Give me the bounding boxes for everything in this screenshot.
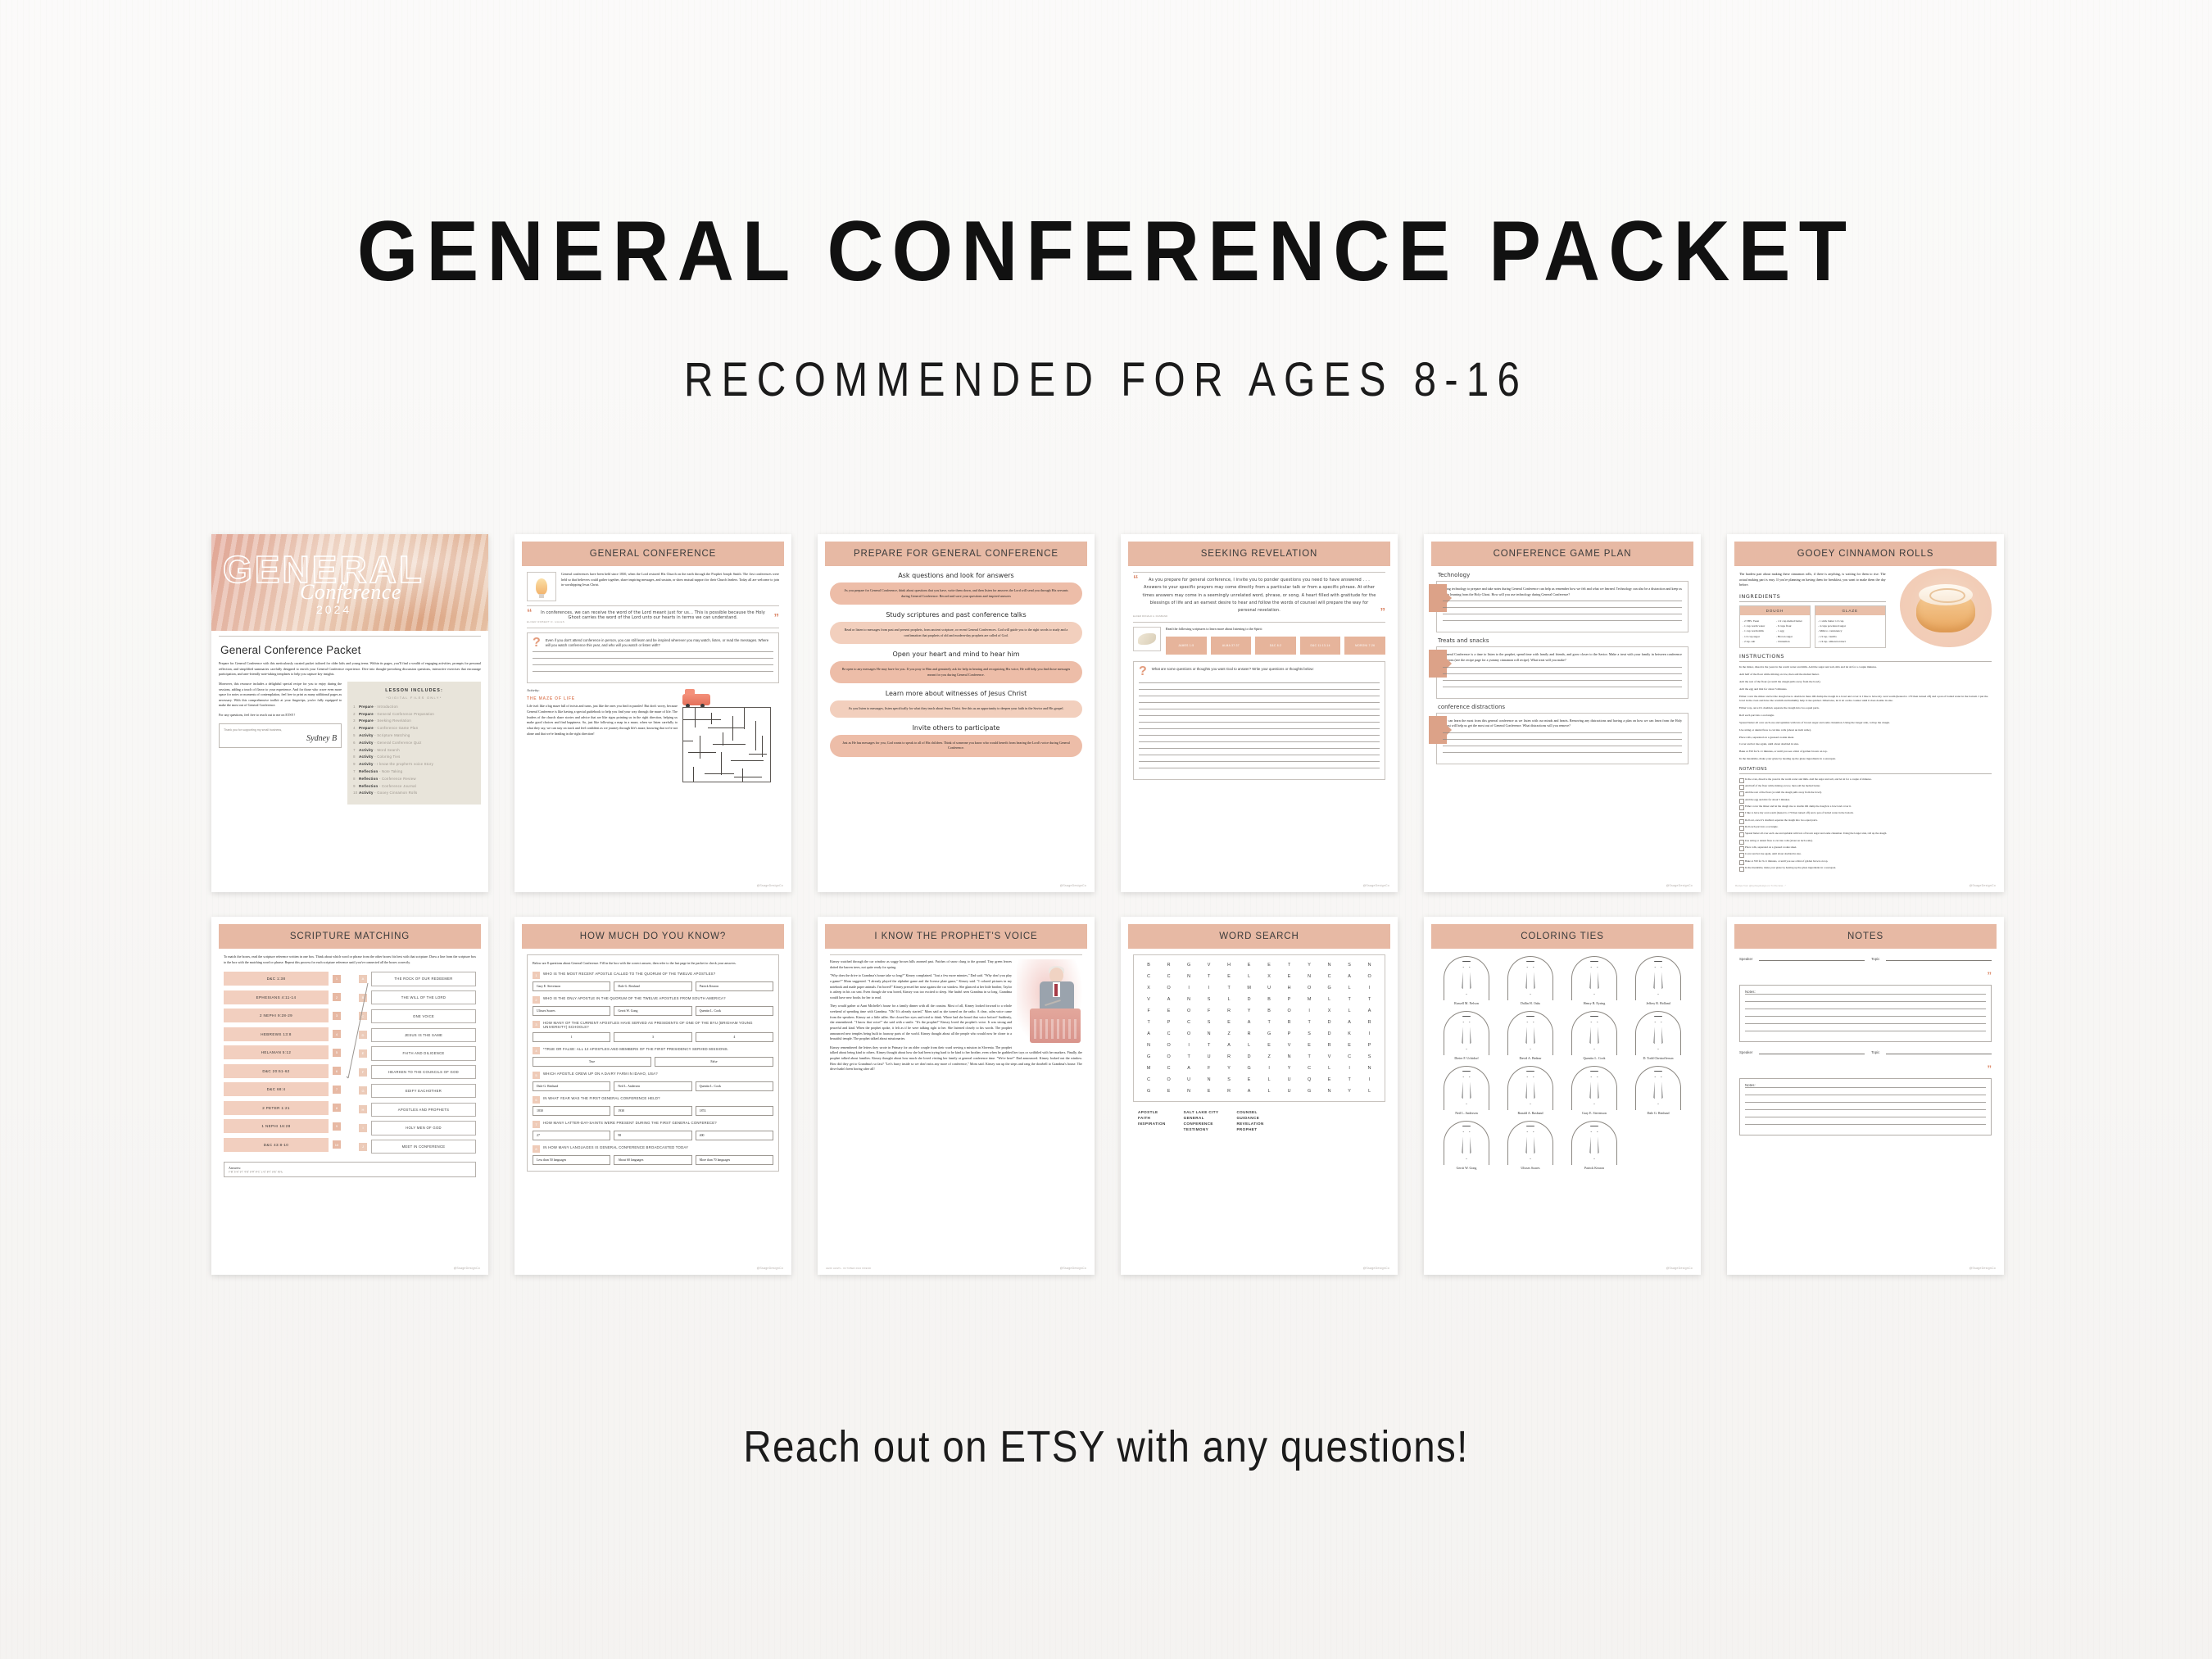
gc-answer-lines[interactable] [533,651,773,672]
notation-item[interactable]: Add half of the flour while mixing on lo… [1739,784,1992,788]
quiz-option[interactable]: Quentin L. Cook [696,1006,773,1016]
notation-item[interactable]: In the oven, dissolve the yeast in the w… [1739,777,1992,782]
tie-cell[interactable]: Jeffrey R. Holland [1628,954,1688,1005]
scripture-answer: THE ROCK OF OUR REDEEMER [371,972,476,986]
sheet-banner: SEEKING REVELATION [1128,542,1390,566]
gc-question: Even if you don't attend conference in p… [546,638,773,648]
word-search-cell: L [1320,997,1340,1002]
prepare-pill: As you prepare for General Conference, t… [830,582,1082,605]
word-search-cell: I [1259,1066,1280,1071]
word-search-cell: I [1179,1043,1199,1048]
scripture-ref-row[interactable]: 2 PETER 1:218 [224,1101,341,1115]
scripture-answer-letter: I [359,1124,367,1132]
tie-icon [1628,954,1688,1000]
quiz-option[interactable]: 400 [696,1131,773,1140]
cover-para-2: Moreover, this resource includes a delig… [219,682,342,709]
speaker-label: Speaker [1739,957,1752,961]
notation-item[interactable]: Bake at 350 for 9-11 minutes, or until y… [1739,859,1992,863]
gameplan-box: General Conference is a time to listen t… [1436,646,1688,698]
watermark: @SsageDesignCo [1363,1267,1389,1270]
word-bank-item: COUNSEL [1236,1110,1263,1116]
word-search-cell: C [1139,1077,1159,1082]
gameplan-heading: conference distractions [1438,704,1688,710]
scripture-answer: APOSTLES AND PROPHETS [371,1103,476,1117]
quiz-option[interactable]: 98 [614,1131,691,1140]
watermark: @SsageDesignCo [757,884,783,887]
tie-icon [1436,1064,1497,1110]
thumbnail-game-plan[interactable]: CONFERENCE GAME PLAN TechnologyUsing tec… [1424,534,1701,892]
word-search-cell: U [1179,1077,1199,1082]
tie-name: Dieter F. Uchtdorf [1436,1056,1497,1060]
word-search-cell: E [1159,1009,1180,1013]
word-bank-item: CONFERENCE [1184,1122,1219,1127]
thumbnail-cinnamon-rolls[interactable]: GOOEY CINNAMON ROLLS The hardest part ab… [1727,534,2004,892]
sheet-banner: WORD SEARCH [1128,924,1390,949]
word-search-cell: N [1320,963,1340,968]
tie-cell[interactable]: Ulisses Soares [1500,1119,1561,1170]
thumbnail-cover[interactable]: GENERAL Conference 2024 General Conferen… [211,534,488,892]
scripture-answer: THE WILL OF THE LORD [371,990,476,1004]
word-search-cell: N [1320,1089,1340,1094]
quiz-option[interactable]: 27 [533,1131,610,1140]
gameplan-block: Using technology to prepare and take not… [1436,581,1688,632]
tie-cell[interactable]: Dale G. Renlund [1628,1064,1688,1115]
scripture-chip[interactable]: D&C 11:13-14 [1300,637,1341,655]
scripture-ref-row[interactable]: 2 NEPHI 9:28-293 [224,1009,341,1022]
scripture-chip[interactable]: JAMES 1:5 [1166,637,1207,655]
quiz-option[interactable]: 4 [696,1032,773,1042]
cover-para-3: For any questions, feel free to reach ou… [219,713,342,718]
tie-cell[interactable]: Neil L. Andersen [1436,1064,1497,1115]
scripture-answer-row[interactable]: ATHE ROCK OF OUR REDEEMER [359,972,476,986]
scripture-answer: FAITH AND DILIGENCE [371,1046,476,1060]
lightbulb-icon [527,572,556,601]
word-search-cell: P [1360,1043,1380,1048]
gc-quote: In conferences, we can receive the word … [536,610,771,620]
word-search-cell: T [1280,963,1300,968]
word-search-cell: U [1259,986,1280,990]
footer-cta: Reach out on ETSY with any questions! [133,1421,2079,1472]
notes-area[interactable]: Notes: [1739,1078,1992,1135]
quiz-option[interactable]: Dale G. Renlund [614,981,691,991]
quiz-option[interactable]: Gerrit W. Gong [614,1006,691,1016]
answer-key-box: Answers: 1-B, 2-H, 3-I, 4-D, 5-A, 6-C, 7… [224,1162,476,1177]
quiz-option[interactable]: Dale G. Renlund [533,1081,610,1091]
word-search-cell: F [1199,1009,1220,1013]
word-search-cell: M [1299,997,1320,1002]
gameplan-lines[interactable] [1443,732,1682,753]
quote-icon: ” [1739,1064,1992,1074]
word-search-cell: Y [1240,1009,1260,1013]
scripture-answer-row[interactable]: JMEET IN CONFERENCE [359,1140,476,1154]
page-title: GENERAL CONFERENCE PACKET [88,203,2124,301]
word-bank-item: PROPHET [1236,1127,1263,1133]
prepare-body: Just as He has messages for you, God wan… [840,741,1072,751]
topic-input[interactable] [1886,954,1992,961]
scripture-chip[interactable]: MORONI 7:26 [1344,637,1385,655]
quiz-option[interactable]: 3 [614,1032,691,1042]
word-search-cell: E [1219,1020,1240,1025]
tie-name: Gerrit W. Gong [1436,1166,1497,1170]
recipe-step: Bake at 350 for 9-11 minutes, or until y… [1739,750,1992,755]
lesson-includes-title: LESSON INCLUDES: [353,688,475,693]
signature-box: Thank you for supporting my small busine… [219,723,342,748]
speaker-input[interactable] [1759,1048,1865,1054]
ingredient: Cinnamon [1776,639,1807,644]
sm-intro: To match the boxes, read the scripture r… [224,954,476,965]
quiz-question-text: WHO IS THE ONLY APOSTLE IN THE QUORUM OF… [543,996,726,1004]
cinnamon-roll-image [1900,569,1992,647]
word-search-cell: X [1139,986,1159,990]
topic-input[interactable] [1886,1048,1992,1054]
word-bank-item: FAITH [1138,1116,1166,1122]
sr-answer-lines[interactable] [1139,682,1380,768]
quiz-option-row: Less than 50 languagesAbout 60 languages… [533,1155,773,1165]
scripture-ref-num: 3 [333,1012,341,1020]
word-search-cell: H [1219,963,1240,968]
recipe-step: Add the egg and mix for about 5 minutes. [1739,687,1992,692]
promo-page: GENERAL CONFERENCE PACKET RECOMMENDED FO… [0,0,2212,1659]
word-search-cell: N [1360,963,1380,968]
word-search-cell: M [1139,1066,1159,1071]
quiz-option[interactable]: Ulisses Soares [533,1006,610,1016]
word-search-cell: I [1360,986,1380,990]
notation-item[interactable]: Add the rest of the flour (or until the … [1739,791,1992,795]
tie-cell[interactable]: Dallin H. Oaks [1500,954,1561,1005]
quiz-option[interactable]: Neil L. Andersen [614,1081,691,1091]
signature-note: Thank you for supporting my small busine… [224,728,337,732]
word-search-cell: F [1139,1009,1159,1013]
scripture-answer-row[interactable]: GEDIFY EACHOTHER [359,1084,476,1098]
scripture-ref: HEBREWS 13:8 [224,1027,329,1041]
speaker-label: Speaker [1739,1050,1752,1054]
quiz-number: 1 [533,972,540,979]
prepare-heading: Learn more about witnesses of Jesus Chri… [830,690,1082,697]
word-search-cell: N [1280,1054,1300,1059]
scripture-answer-row[interactable]: FHEARKEN TO THE COUNCILS OF GOD [359,1065,476,1079]
recipe-step: Either cover the mixer and let the dough… [1739,695,1992,704]
word-search-cell: Z [1219,1031,1240,1036]
scripture-ref-row[interactable]: HEBREWS 13:84 [224,1027,341,1041]
recipe-step: Spread butter all over each one and spri… [1739,721,1992,726]
tie-cell[interactable]: Henry B. Eyring [1564,954,1625,1005]
ingredients-heading: INGREDIENTS [1739,593,1886,602]
tie-cell[interactable]: Patrick Kearon [1564,1119,1625,1170]
tie-name: D. Todd Christofferson [1628,1056,1688,1060]
quiz-option[interactable]: 1930 [614,1106,691,1116]
quiz-option-row: Ulisses SoaresGerrit W. GongQuentin L. C… [533,1006,773,1016]
gameplan-box: Using technology to prepare and take not… [1436,581,1688,632]
recipe-step: Place rolls, separated on a greased cook… [1739,736,1992,741]
truck-icon [682,694,710,705]
word-search-cell: G [1240,1066,1260,1071]
quiz-number: 6 [533,1096,540,1104]
quiz-option[interactable]: True [533,1057,651,1067]
lesson-item: 9Activity - I know the prophet's voice S… [353,762,475,766]
word-search-cell: Z [1259,1054,1280,1059]
thumbnail-word-search[interactable]: WORD SEARCH BRGVHEETYNSNCCNTELXENCAOXOII… [1121,917,1398,1275]
watermark: @SsageDesignCo [1060,1267,1086,1270]
quiz-question-text: HOW MANY LATTER-DAY-SAINTS WERE PRESENT … [543,1121,717,1128]
thumbnail-scripture-matching[interactable]: SCRIPTURE MATCHING To match the boxes, r… [211,917,488,1275]
quiz-question-text: *TRUE OR FALSE: ALL 12 APOSTLES AND MEMB… [543,1047,728,1054]
word-bank: APOSTLEFAITHINSPIRATIONSALT LAKE CITYGEN… [1133,1110,1385,1133]
tie-cell[interactable]: Quentin L. Cook [1564,1009,1625,1060]
scripture-ref-num: 10 [333,1140,341,1149]
word-search-cell: B [1259,997,1280,1002]
word-search-cell: X [1259,974,1280,979]
scripture-ref-num: 4 [333,1030,341,1038]
notation-item[interactable]: Roll out, once it's doubled, separate th… [1739,818,1992,823]
scripture-answer-row[interactable]: BTHE WILL OF THE LORD [359,990,476,1004]
word-search-cell: N [1139,1043,1159,1048]
quiz-question-text: HOW MANY OF THE CURRENT APOSTLES HAVE SE… [543,1021,773,1031]
word-bank-item: TESTIMONY [1184,1127,1219,1133]
quiz-option[interactable]: More than 70 languages [696,1155,773,1165]
scripture-ref: 1 NEPHI 16:28 [224,1119,329,1133]
word-search-cell: E [1219,974,1240,979]
tie-cell[interactable]: Ronald A. Rasband [1500,1064,1561,1115]
notation-item[interactable]: Place rolls, separated on a greased cook… [1739,845,1992,850]
word-bank-item: INSPIRATION [1138,1122,1166,1127]
word-search-cell: F [1199,1066,1220,1071]
lesson-item: 3Prepare - Seeking Revelation [353,718,475,723]
word-search-cell: Y [1219,1066,1240,1071]
word-search-cell: Y [1339,1089,1360,1094]
quiz-option[interactable]: 1 [533,1032,610,1042]
word-search-cell: D [1240,1054,1260,1059]
thumbnail-seeking-revelation[interactable]: SEEKING REVELATION “ As you prepare for … [1121,534,1398,892]
word-search-cell: A [1139,1031,1159,1036]
answer-key-label: Answers: [229,1166,471,1170]
word-search-cell: L [1219,997,1240,1002]
word-search-cell: V [1139,997,1159,1002]
lesson-item: 10Activity - Gooey Cinnamon Rolls [353,791,475,795]
notation-item[interactable]: I like to have my oven warm (heated to 1… [1739,811,1992,815]
tie-icon [1628,1064,1688,1110]
word-search-grid[interactable]: BRGVHEETYNSNCCNTELXENCAOXOIITMUHOGLIVANS… [1133,954,1385,1102]
notation-item[interactable]: Spread butter all over each one and spri… [1739,832,1992,836]
scripture-answer-row[interactable]: DJESUS IS THE SAME [359,1028,476,1042]
scripture-answer-row[interactable]: CONE VOICE [359,1009,476,1023]
word-search-cell: S [1339,963,1360,968]
watermark: @SsageDesignCo [1969,884,1996,887]
scripture-answer-row[interactable]: IHOLY MEN OF GOD [359,1121,476,1135]
word-search-cell: L [1339,986,1360,990]
sheet-banner: HOW MUCH DO YOU KNOW? [522,924,784,949]
quiz-question-row: 6IN WHAT YEAR WAS THE FIRST GENERAL CONF… [533,1096,773,1104]
dough-header: DOUGH [1740,606,1810,615]
speaker-input[interactable] [1759,954,1865,961]
tie-icon [1500,1009,1561,1055]
word-search-cell: A [1339,974,1360,979]
word-search-cell: L [1240,1043,1260,1048]
lesson-includes-box: LESSON INCLUDES: *DIGITAL FILES ONLY* 1P… [347,682,481,805]
tie-cell[interactable]: Dieter F. Uchtdorf [1436,1009,1497,1060]
scripture-answer-letter: H [359,1105,367,1113]
scripture-ref-row[interactable]: D&C 20:61-626 [224,1064,341,1078]
gameplan-body: Using technology to prepare and take not… [1443,587,1682,597]
scripture-chip[interactable]: D&C 8:2 [1255,637,1296,655]
word-search-cell: O [1280,1009,1300,1013]
tie-name: Patrick Kearon [1564,1166,1625,1170]
word-search-cell: Y [1299,963,1320,968]
prepare-pill: Just as He has messages for you, God wan… [830,735,1082,757]
thumbnail-prepare[interactable]: PREPARE FOR GENERAL CONFERENCE Ask quest… [818,534,1095,892]
quiz-number: 7 [533,1121,540,1128]
quiz-option[interactable]: About 60 languages [614,1155,691,1165]
quiz-question-row: 2WHO IS THE ONLY APOSTLE IN THE QUORUM O… [533,996,773,1004]
notation-item[interactable]: Add the egg and mix for about 5 minutes. [1739,798,1992,802]
scripture-ref: D&C 1:38 [224,972,329,986]
tie-name: Ulisses Soares [1500,1166,1561,1170]
tie-cell[interactable]: David A. Bednar [1500,1009,1561,1060]
quote-icon: ” [1739,971,1992,981]
scripture-ref-row[interactable]: 1 NEPHI 16:289 [224,1119,341,1133]
prophet-illustration [1017,959,1082,1045]
word-search-cell: E [1280,974,1300,979]
notation-item[interactable]: Cover and let rise again, until about do… [1739,852,1992,856]
quiz-option[interactable]: Less than 50 languages [533,1155,610,1165]
quote-close-icon: ” [1380,610,1386,614]
word-search-cell: L [1320,1066,1340,1071]
word-search-cell: C [1179,1020,1199,1025]
scripture-answer-row[interactable]: HAPOSTLES AND PROPHETS [359,1103,476,1117]
tie-icon [1500,1119,1561,1165]
prepare-heading: Ask questions and look for answers [830,572,1082,579]
sheet-banner: PREPARE FOR GENERAL CONFERENCE [825,542,1087,566]
quiz-option[interactable]: 1830 [533,1106,610,1116]
word-search-cell: G [1139,1054,1159,1059]
lesson-item: 8Activity - Coloring Ties [353,755,475,759]
quiz-option[interactable]: 1874 [696,1106,773,1116]
scripture-answer-row[interactable]: EFAITH AND DILIGENCE [359,1046,476,1060]
prepare-body: As you listen to messages, listen specif… [840,706,1072,712]
quiz-number: 5 [533,1072,540,1079]
cover-heading: General Conference Packet [220,644,481,656]
scripture-ref-row[interactable]: D&C 68:47 [224,1082,341,1096]
scripture-answer-letter: A [359,975,367,983]
word-search-cell: U [1280,1077,1300,1082]
sheet-banner: COLORING TIES [1431,924,1693,949]
word-search-cell: E [1240,1077,1260,1082]
word-bank-item: REVELATION [1236,1122,1263,1127]
notation-item[interactable]: In the meantime, make your glaze by heat… [1739,866,1992,870]
lesson-item: 7Reflection - Note Taking [353,769,475,773]
gameplan-heading: Treats and snacks [1438,637,1688,644]
topic-label: Topic [1871,957,1879,961]
scripture-answer-letter: G [359,1086,367,1095]
word-search-cell: O [1179,1031,1199,1036]
notation-item[interactable]: Either cover the mixer and let the dough… [1739,805,1992,809]
instructions-heading: INSTRUCTIONS [1739,653,1992,662]
scripture-answer-letter: C [359,1012,367,1020]
word-search-cell: N [1199,1077,1220,1082]
quiz-option-row: Dale G. RenlundNeil L. AndersenQuentin L… [533,1081,773,1091]
quiz-question-row: 7HOW MANY LATTER-DAY-SAINTS WERE PRESENT… [533,1121,773,1128]
word-search-cell: E [1259,963,1280,968]
quiz-question-text: IN WHAT YEAR WAS THE FIRST GENERAL CONFE… [543,1096,660,1104]
quiz-intro: Below are 8 questions about General Conf… [533,961,773,967]
maze-text: Life isn't like a big maze full of twist… [527,704,678,737]
scripture-answer-letter: D [359,1031,367,1039]
gameplan-lines[interactable] [1443,601,1682,621]
word-search-cell: G [1139,1089,1159,1094]
quiz-option-row: 2798400 [533,1131,773,1140]
scripture-ref-row[interactable]: HELAMAN 5:125 [224,1045,341,1059]
quiz-option[interactable]: Patrick Kearon [696,981,773,991]
tie-name: Gary E. Stevenson [1564,1111,1625,1115]
lesson-item: 7Activity - Word Search [353,748,475,752]
word-search-cell: Q [1299,1077,1320,1082]
dough-table: DOUGH 2 TBS. Yeast1 cup warm water1 cup … [1739,605,1811,648]
scripture-chip[interactable]: ALMA 37:37 [1211,637,1252,655]
tie-cell[interactable]: Gary E. Stevenson [1564,1064,1625,1115]
quiz-option-row: 134 [533,1032,773,1042]
scripture-ref-row[interactable]: D&C 43:8-1010 [224,1138,341,1152]
lesson-item: 2Prepare - General Conference Preparatio… [353,712,475,716]
quiz-option[interactable]: Quentin L. Cook [696,1081,773,1091]
word-search-cell: A [1360,1009,1380,1013]
notes-area[interactable]: Notes: [1739,985,1992,1042]
word-search-cell: C [1139,974,1159,979]
word-search-cell: V [1199,963,1220,968]
gameplan-heading: Technology [1438,572,1688,578]
quiz-question-row: 4*TRUE OR FALSE: ALL 12 APOSTLES AND MEM… [533,1047,773,1054]
word-search-cell: G [1299,1089,1320,1094]
word-search-cell: E [1159,1089,1180,1094]
thumbnail-notes[interactable]: NOTES SpeakerTopic”Notes:SpeakerTopic”No… [1727,917,2004,1275]
answer-key: 1-B, 2-H, 3-I, 4-D, 5-A, 6-C, 7-G, 8-J, … [229,1170,471,1173]
quiz-option[interactable]: Gary E. Stevenson [533,981,610,991]
word-search-cell: L [1259,1077,1280,1082]
word-search-cell: I [1339,1066,1360,1071]
thumbnail-coloring-ties[interactable]: COLORING TIES Russell M. NelsonDallin H.… [1424,917,1701,1275]
word-search-cell: S [1199,1020,1220,1025]
word-search-cell: I [1299,1009,1320,1013]
gameplan-lines[interactable] [1443,667,1682,687]
lesson-item: 1Prepare - Introduction [353,705,475,709]
thumbnail-general-conference[interactable]: GENERAL CONFERENCE General conferences h… [514,534,791,892]
gameplan-body: We can learn the most from this general … [1443,718,1682,729]
tie-cell[interactable]: Russell M. Nelson [1436,954,1497,1005]
thumbnail-quiz[interactable]: HOW MUCH DO YOU KNOW? Below are 8 questi… [514,917,791,1275]
sheet-banner: NOTES [1734,924,1997,949]
tie-cell[interactable]: D. Todd Christofferson [1628,1009,1688,1060]
tie-cell[interactable]: Gerrit W. Gong [1436,1119,1497,1170]
sheet-banner: GENERAL CONFERENCE [522,542,784,566]
notation-item[interactable]: Roll each part into a rectangle. [1739,825,1992,829]
recipe-step: Use string or dental floss to cut into r… [1739,728,1992,733]
quote-open-icon: “ [1133,577,1139,582]
scripture-ref-row[interactable]: EPHESIANS 4:11-142 [224,990,341,1004]
lesson-item: 8Reflection - Conference Review [353,777,475,781]
gc-intro: General conferences have been held since… [561,572,779,588]
word-search-cell: D [1240,997,1260,1002]
quiz-option[interactable]: False [655,1057,773,1067]
tie-name: Neil L. Andersen [1436,1111,1497,1115]
word-search-cell: P [1280,997,1300,1002]
word-search-cell: N [1179,974,1199,979]
thumbnail-prophets-voice[interactable]: I KNOW THE PROPHET'S VOICE Kinsey watche… [818,917,1095,1275]
tie-name: Russell M. Nelson [1436,1001,1497,1005]
story-source: HEIDI LEWIS - OCTOBER 2022 FRIEND [826,1267,871,1270]
quiz-question-row: 8IN HOW MANY LANGUAGES IS GENERAL CONFER… [533,1145,773,1153]
quiz-option-row: Gary E. StevensonDale G. RenlundPatrick … [533,981,773,991]
page-subtitle: RECOMMENDED FOR AGES 8-16 [166,352,2047,407]
scripture-ref-row[interactable]: D&C 1:381 [224,972,341,986]
notation-item[interactable]: Use string or dental floss to cut into r… [1739,839,1992,843]
